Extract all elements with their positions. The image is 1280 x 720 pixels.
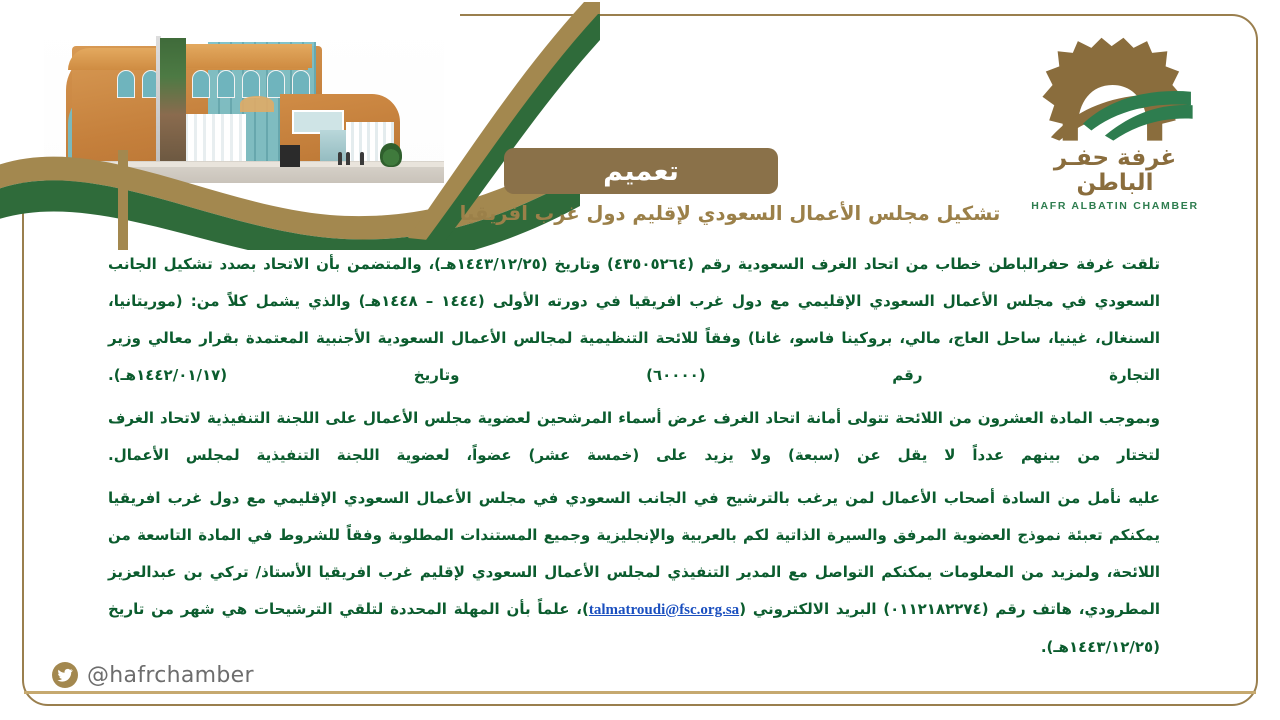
footer-divider: [24, 691, 1256, 694]
paragraph-1: تلقت غرفة حفرالباطن خطاب من اتحاد الغرف …: [108, 246, 1160, 394]
building-arch-windows: [74, 70, 310, 100]
paragraph-3-text-before-email: عليه نأمل من السادة أصحاب الأعمال لمن ير…: [108, 489, 1160, 618]
street-object: [280, 145, 300, 167]
arch-window: [242, 70, 260, 98]
chamber-gear-arch-logo: [1030, 36, 1200, 144]
circular-document-page: غرفة حفـر الباطن HAFR ALBATIN CHAMBER تع…: [0, 0, 1280, 720]
badge-label: تعميم: [603, 156, 679, 187]
email-link[interactable]: talmatroudi@fsc.org.sa: [589, 602, 739, 618]
logo-name-arabic: غرفة حفـر الباطن: [1020, 146, 1210, 197]
chamber-building-photo: [44, 18, 444, 183]
document-body: تلقت غرفة حفرالباطن خطاب من اتحاد الغرف …: [108, 246, 1160, 672]
circular-type-badge: تعميم: [504, 148, 778, 194]
twitter-handle[interactable]: @hafrchamber: [87, 663, 254, 688]
street-shrub: [380, 143, 402, 167]
portrait-banner: [160, 38, 186, 166]
paragraph-2: وبموجب المادة العشرون من اللائحة تتولى أ…: [108, 400, 1160, 474]
header-artwork: [0, 0, 560, 235]
arch-window: [217, 70, 235, 98]
building-emblem: [240, 96, 274, 112]
paragraph-3: عليه نأمل من السادة أصحاب الأعمال لمن ير…: [108, 480, 1160, 666]
pedestrians: [336, 149, 376, 165]
twitter-bird-icon[interactable]: [52, 662, 78, 688]
chamber-logo: غرفة حفـر الباطن HAFR ALBATIN CHAMBER: [1020, 36, 1210, 206]
arch-window: [192, 70, 210, 98]
arch-window: [117, 70, 135, 98]
social-footer[interactable]: @hafrchamber: [52, 662, 254, 688]
document-title: تشكيل مجلس الأعمال السعودي لإقليم دول غر…: [400, 202, 1060, 225]
